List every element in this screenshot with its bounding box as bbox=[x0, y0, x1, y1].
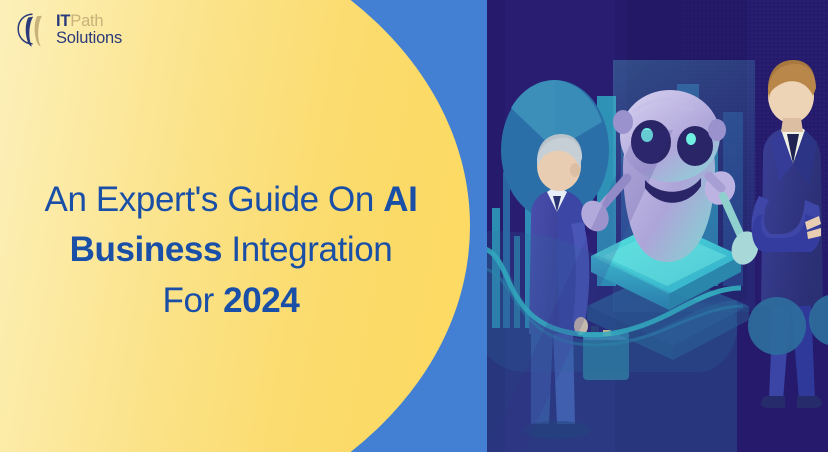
headline-line-3: For 2024 bbox=[8, 276, 454, 326]
hero-illustration bbox=[487, 0, 828, 452]
headline-emphasis-2024: 2024 bbox=[223, 281, 299, 320]
logo-word-solutions: Solutions bbox=[56, 30, 122, 47]
logo-word-it: IT bbox=[56, 12, 70, 30]
page-title: An Expert's Guide On AI Business Integra… bbox=[8, 175, 454, 325]
headline-emphasis-ai: AI bbox=[383, 180, 417, 219]
headline-text-3: For bbox=[163, 281, 224, 320]
headline-line-1: An Expert's Guide On AI bbox=[8, 175, 454, 225]
itpath-monogram-icon bbox=[16, 12, 50, 48]
headline-emphasis-business: Business bbox=[70, 230, 222, 269]
brand-logo-text: ITPath Solutions bbox=[56, 13, 122, 47]
headline-text-1: An Expert's Guide On bbox=[45, 180, 384, 219]
logo-word-path: Path bbox=[70, 12, 103, 30]
blog-banner: ITPath Solutions An Expert's Guide On AI… bbox=[0, 0, 828, 452]
brand-logo[interactable]: ITPath Solutions bbox=[16, 12, 122, 48]
headline-text-2: Integration bbox=[222, 230, 392, 269]
headline-line-2: Business Integration bbox=[8, 225, 454, 275]
illustration-canvas bbox=[487, 0, 828, 452]
